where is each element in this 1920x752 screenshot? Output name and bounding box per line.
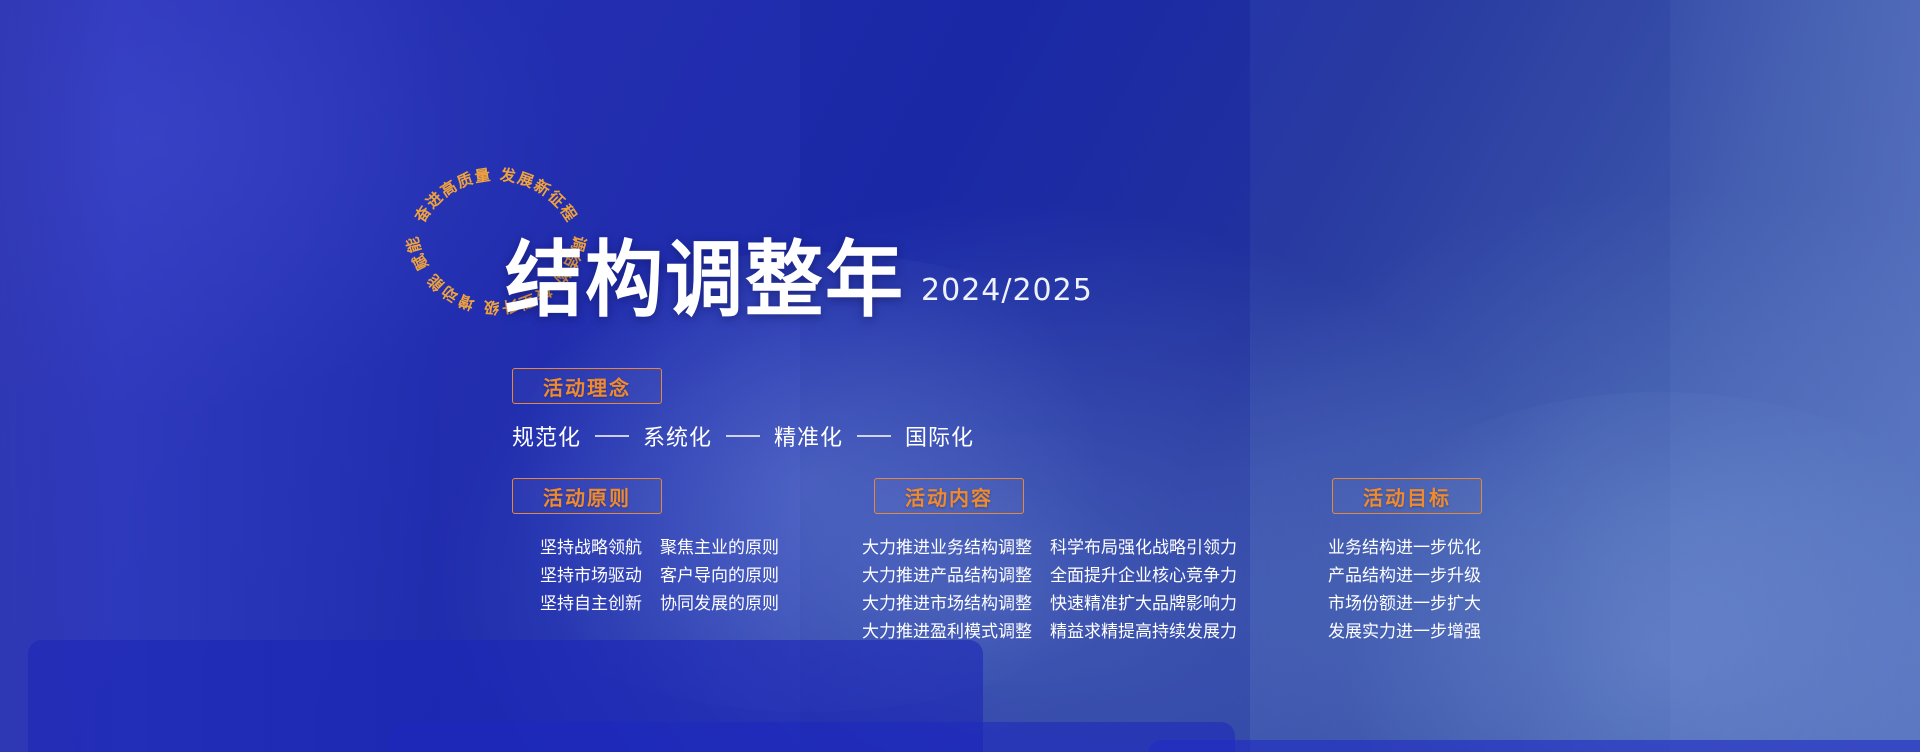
goal-row: 业务结构进一步优化 xyxy=(1328,534,1481,562)
content-list: 大力推进业务结构调整科学布局强化战略引领力大力推进产品结构调整全面提升企业核心竞… xyxy=(862,534,1237,646)
content-row-left: 大力推进产品结构调整 xyxy=(862,562,1032,590)
title-row: 结构调整年 2024/2025 xyxy=(505,246,1093,320)
concept-item: 精准化 xyxy=(774,420,843,452)
decorative-card-2 xyxy=(390,722,1235,752)
content-row-left: 大力推进市场结构调整 xyxy=(862,590,1032,618)
content-row-right: 快速精准扩大品牌影响力 xyxy=(1050,590,1237,618)
badge-principle: 活动原则 xyxy=(512,478,662,514)
content-row-right: 精益求精提高持续发展力 xyxy=(1050,618,1237,646)
principle-row-right: 聚焦主业的原则 xyxy=(660,534,779,562)
principle-row-left: 坚持市场驱动 xyxy=(540,562,642,590)
badge-concept: 活动理念 xyxy=(512,368,662,404)
principle-row-right: 客户导向的原则 xyxy=(660,562,779,590)
left-edge-shade xyxy=(0,0,120,752)
concept-list: 规范化系统化精准化国际化 xyxy=(512,420,974,452)
seal-text-top-path: 奋进高质量 发展新征程 xyxy=(410,165,581,227)
concept-item: 系统化 xyxy=(643,420,712,452)
content-row-left: 大力推进业务结构调整 xyxy=(862,534,1032,562)
content-row: 大力推进市场结构调整快速精准扩大品牌影响力 xyxy=(862,590,1237,618)
principle-row-left: 坚持自主创新 xyxy=(540,590,642,618)
concept-separator xyxy=(595,435,629,437)
content-row: 大力推进业务结构调整科学布局强化战略引领力 xyxy=(862,534,1237,562)
goal-list: 业务结构进一步优化产品结构进一步升级市场份额进一步扩大发展实力进一步增强 xyxy=(1328,534,1481,646)
goal-row: 发展实力进一步增强 xyxy=(1328,618,1481,646)
goal-row: 市场份额进一步扩大 xyxy=(1328,590,1481,618)
badge-content: 活动内容 xyxy=(874,478,1024,514)
goal-row-left: 产品结构进一步升级 xyxy=(1328,562,1481,590)
concept-item: 国际化 xyxy=(905,420,974,452)
seal-text-top: 奋进高质量 发展新征程 xyxy=(410,165,581,227)
goal-row: 产品结构进一步升级 xyxy=(1328,562,1481,590)
concept-separator xyxy=(726,435,760,437)
concept-separator xyxy=(857,435,891,437)
campaign-banner: 奋进高质量 发展新征程 调结构 转型升级 增动能 赋能 结构调整年 2024/2… xyxy=(0,0,1920,752)
goal-row-left: 发展实力进一步增强 xyxy=(1328,618,1481,646)
principle-row: 坚持自主创新协同发展的原则 xyxy=(540,590,779,618)
badge-goal: 活动目标 xyxy=(1332,478,1482,514)
principle-list: 坚持战略领航聚焦主业的原则坚持市场驱动客户导向的原则坚持自主创新协同发展的原则 xyxy=(540,534,779,618)
goal-row-left: 业务结构进一步优化 xyxy=(1328,534,1481,562)
principle-row: 坚持战略领航聚焦主业的原则 xyxy=(540,534,779,562)
content-row: 大力推进产品结构调整全面提升企业核心竞争力 xyxy=(862,562,1237,590)
content-row: 大力推进盈利模式调整精益求精提高持续发展力 xyxy=(862,618,1237,646)
content-row-right: 全面提升企业核心竞争力 xyxy=(1050,562,1237,590)
content-row-right: 科学布局强化战略引领力 xyxy=(1050,534,1237,562)
principle-row: 坚持市场驱动客户导向的原则 xyxy=(540,562,779,590)
year-label: 2024/2025 xyxy=(921,273,1093,308)
page-title: 结构调整年 xyxy=(505,242,905,321)
concept-item: 规范化 xyxy=(512,420,581,452)
content-row-left: 大力推进盈利模式调整 xyxy=(862,618,1032,646)
goal-row-left: 市场份额进一步扩大 xyxy=(1328,590,1481,618)
principle-row-right: 协同发展的原则 xyxy=(660,590,779,618)
principle-row-left: 坚持战略领航 xyxy=(540,534,642,562)
